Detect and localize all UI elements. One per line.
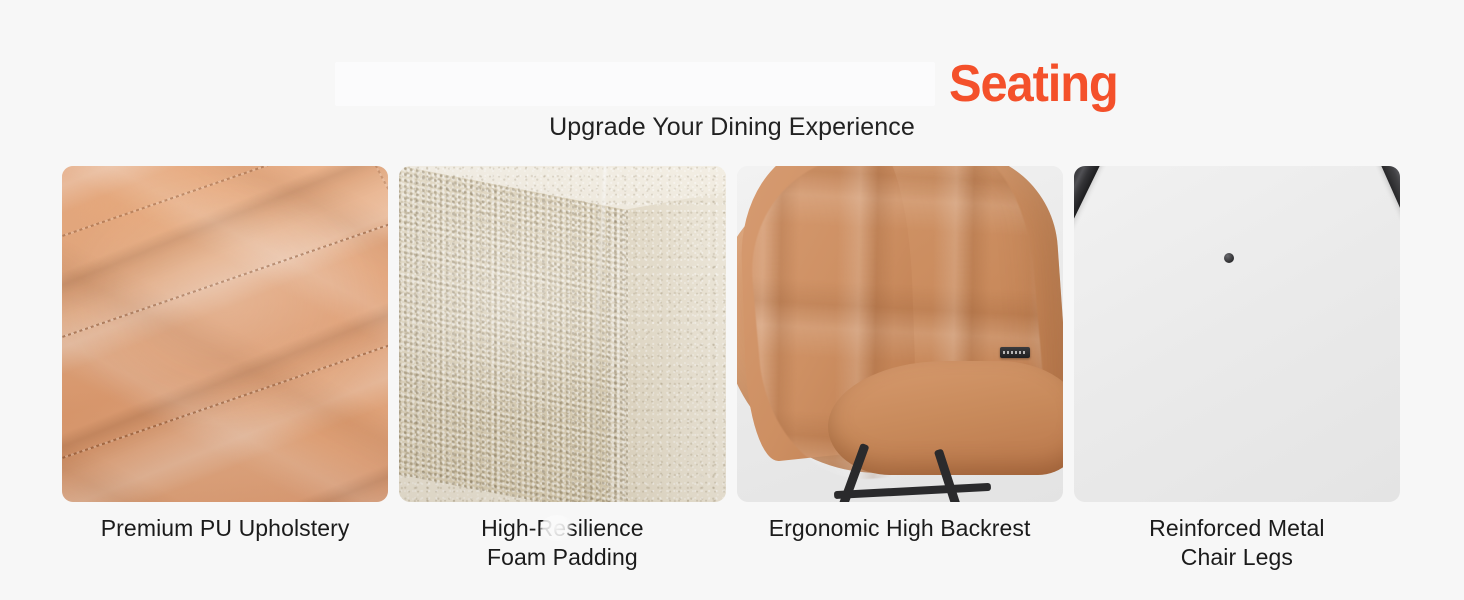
- foam-padding-image[interactable]: [399, 166, 725, 502]
- feature-card-3[interactable]: Ergonomic High Backrest: [737, 166, 1063, 502]
- legs-background: [1074, 166, 1400, 502]
- headline-redaction-block: [335, 62, 935, 106]
- foam-shading: [399, 166, 725, 502]
- page-subtitle: Upgrade Your Dining Experience: [0, 112, 1464, 143]
- page-header: Seating Upgrade Your Dining Experience: [0, 0, 1464, 160]
- feature-card-4[interactable]: Reinforced Metal Chair Legs: [1074, 166, 1400, 502]
- feature-caption-4: Reinforced Metal Chair Legs: [1074, 514, 1400, 572]
- feature-grid: Premium PU Upholstery High-Resilience Fo…: [62, 166, 1400, 502]
- metal-legs-image[interactable]: [1074, 166, 1400, 502]
- headline-accent-word: Seating: [949, 58, 1118, 110]
- feature-card-2[interactable]: High-Resilience Foam Padding: [399, 166, 725, 502]
- feature-caption-1: Premium PU Upholstery: [62, 514, 388, 543]
- feature-caption-3: Ergonomic High Backrest: [737, 514, 1063, 543]
- pu-upholstery-image[interactable]: [62, 166, 388, 502]
- feature-card-1[interactable]: Premium PU Upholstery: [62, 166, 388, 502]
- leather-shading: [62, 166, 388, 502]
- brand-label-tag: [1000, 347, 1030, 358]
- ergonomic-backrest-image[interactable]: [737, 166, 1063, 502]
- feature-caption-2: High-Resilience Foam Padding: [399, 514, 725, 572]
- headline-row: Seating: [0, 53, 1464, 115]
